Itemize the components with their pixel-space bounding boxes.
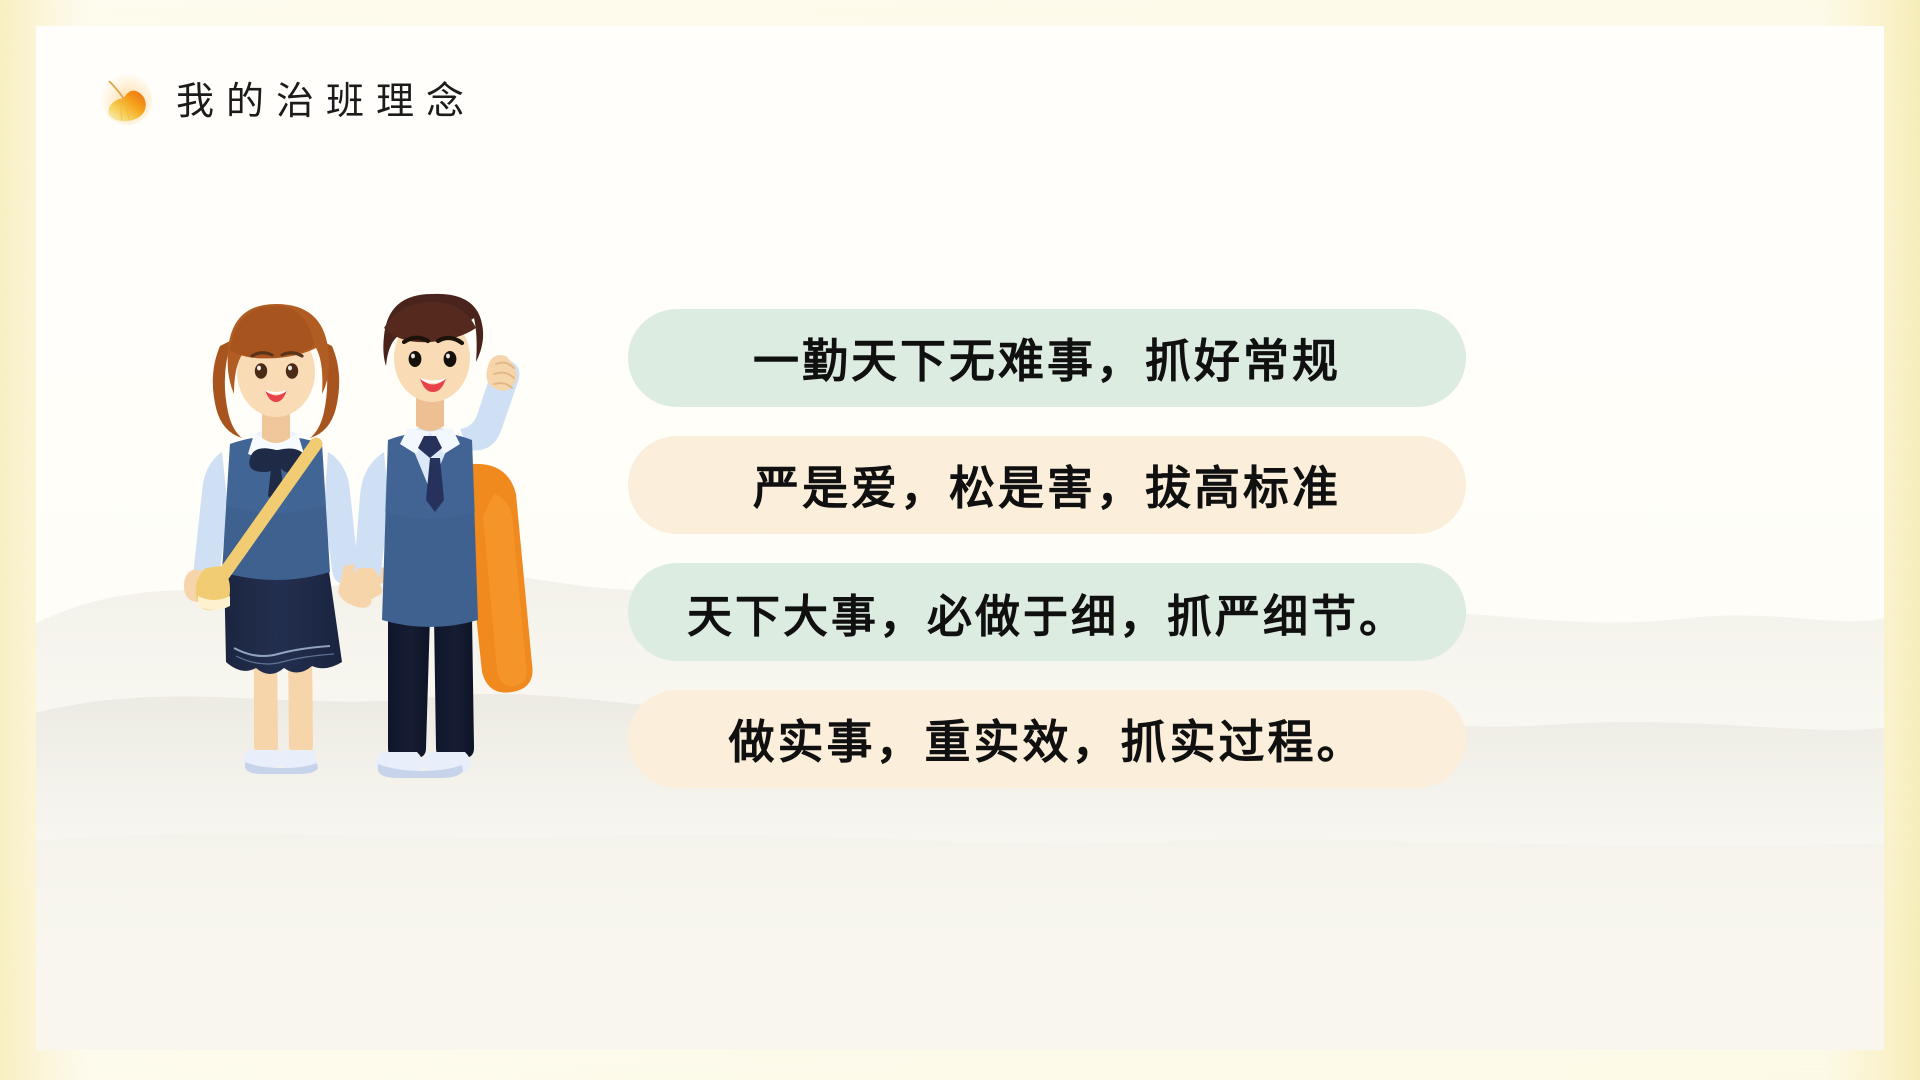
statement-pill-3[interactable]: 天下大事，必做于细，抓严细节。	[628, 563, 1466, 661]
statement-pill-1[interactable]: 一勤天下无难事，抓好常规	[628, 309, 1466, 407]
statement-text-3: 天下大事，必做于细，抓严细节。	[687, 580, 1407, 645]
ginkgo-leaf-icon	[92, 66, 154, 128]
two-students-illustration	[176, 244, 576, 796]
slide-header: 我的治班理念	[92, 66, 476, 128]
slide-canvas: 我的治班理念	[0, 0, 1920, 1080]
statements-list: 一勤天下无难事，抓好常规 严是爱，松是害，拔高标准 天下大事，必做于细，抓严细节…	[628, 309, 1466, 788]
statement-pill-2[interactable]: 严是爱，松是害，拔高标准	[628, 436, 1466, 534]
statement-text-1: 一勤天下无难事，抓好常规	[753, 325, 1341, 391]
statement-text-2: 严是爱，松是害，拔高标准	[753, 452, 1341, 518]
male-student-figure	[352, 294, 533, 778]
page-title: 我的治班理念	[176, 70, 476, 125]
statement-pill-4[interactable]: 做实事，重实效，抓实过程。	[628, 690, 1466, 788]
statement-text-4: 做实事，重实效，抓实过程。	[729, 706, 1366, 772]
slide-inner-page: 我的治班理念	[36, 26, 1884, 1050]
